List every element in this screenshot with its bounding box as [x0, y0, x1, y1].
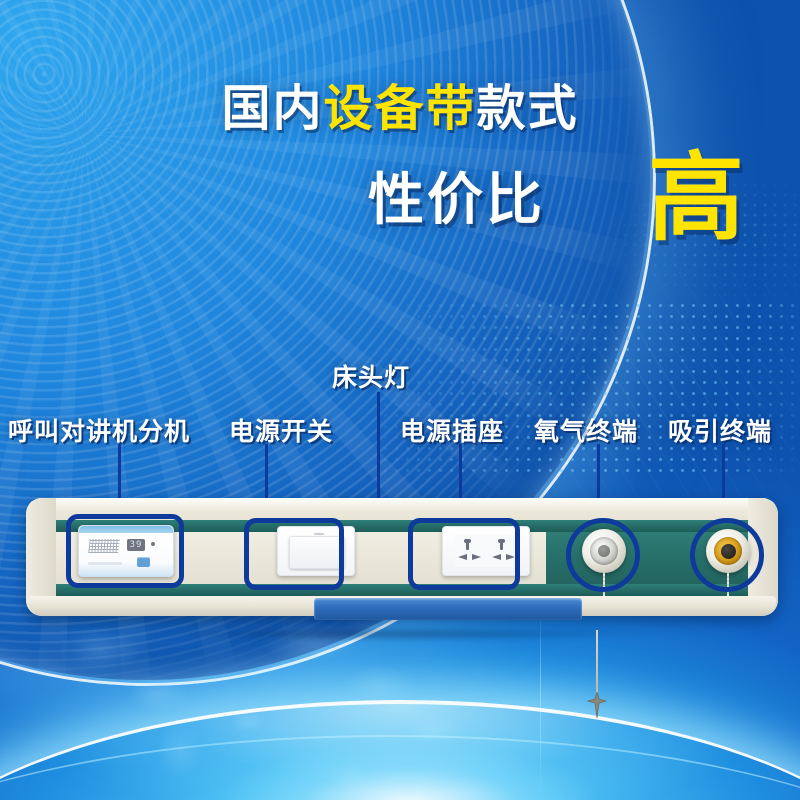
hanging-hook-icon [586, 692, 608, 718]
callout-label-bed-light: 床头灯 [332, 358, 410, 394]
highlight-circle-oxygen [566, 518, 640, 592]
callout-label-oxygen: 氧气终端 [534, 412, 638, 448]
bed-light-strip[interactable] [314, 598, 582, 620]
highlight-box-power-switch [244, 518, 344, 590]
callout-label-power-socket: 电源插座 [400, 412, 504, 448]
panel-top-edge [28, 500, 776, 511]
headline-emphasis-char: 高 [648, 138, 744, 258]
highlight-box-intercom [66, 514, 184, 588]
banner-canvas: 国内设备带款式 性价比 高 呼叫对讲机分机 电源开关 床头灯 电源插座 氧气终端… [0, 0, 800, 800]
headline-text-part3: 款式 [477, 80, 579, 137]
highlight-circle-suction [690, 518, 764, 592]
headline-text-highlight: 设备带 [323, 80, 476, 137]
headline-text-part1: 国内 [221, 80, 323, 137]
halftone-dot-field [380, 300, 800, 480]
headline-line-1: 国内设备带款式 [0, 78, 800, 140]
callout-label-suction: 吸引终端 [668, 412, 772, 448]
headline-line-2: 性价比 高 [0, 156, 800, 256]
callout-label-power-switch: 电源开关 [229, 412, 333, 448]
highlight-box-power-socket [408, 518, 520, 590]
callout-label-intercom: 呼叫对讲机分机 [8, 412, 190, 448]
headline-subtext: 性价比 [368, 156, 545, 246]
